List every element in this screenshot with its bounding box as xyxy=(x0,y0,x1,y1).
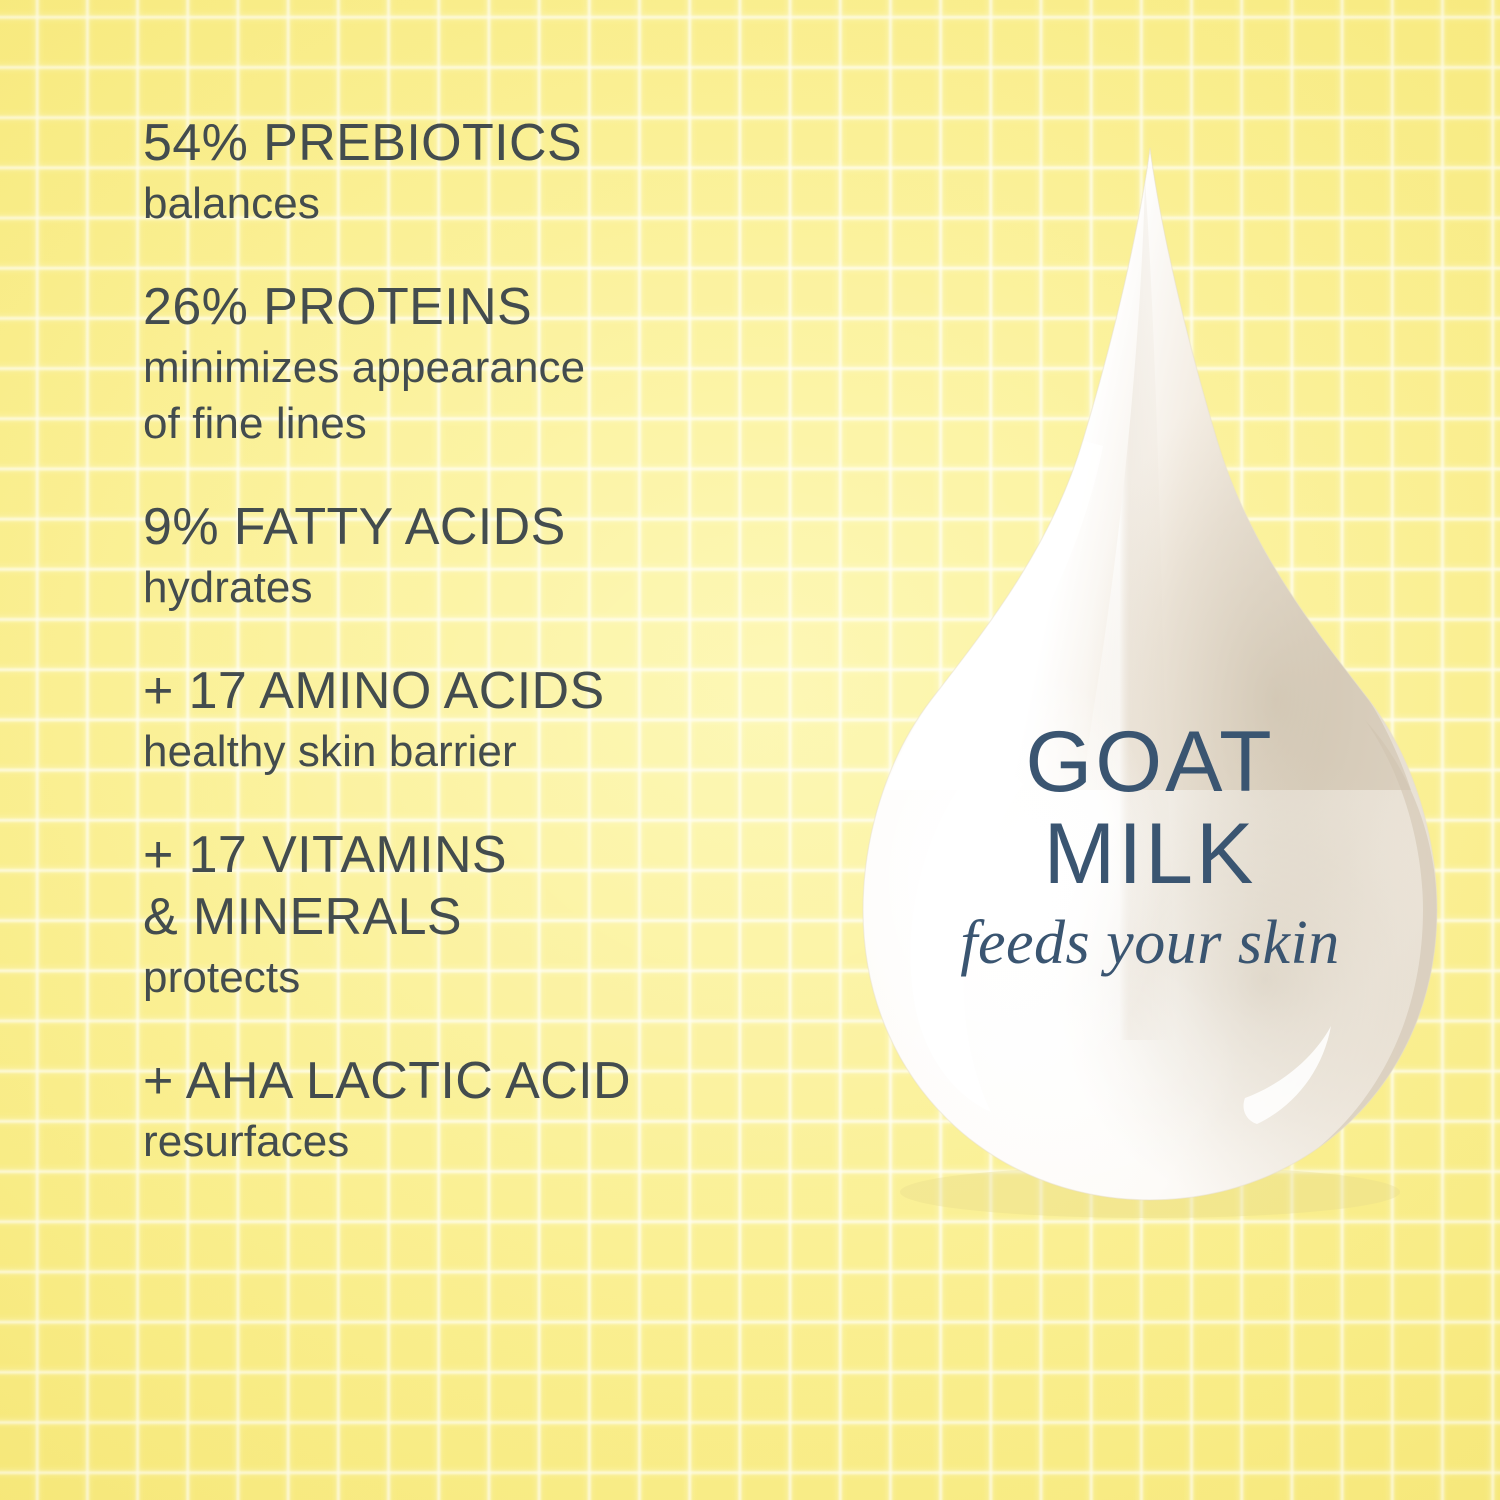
benefit-subtitle: hydrates xyxy=(143,560,843,616)
benefit-item: + AHA LACTIC ACID resurfaces xyxy=(143,1050,843,1170)
benefit-item: 54% PREBIOTICS balances xyxy=(143,112,843,232)
infographic-canvas: 54% PREBIOTICS balances 26% PROTEINS min… xyxy=(0,0,1500,1500)
benefit-title: + 17 VITAMINS & MINERALS xyxy=(143,824,843,948)
benefit-title: + 17 AMINO ACIDS xyxy=(143,660,843,722)
benefits-list: 54% PREBIOTICS balances 26% PROTEINS min… xyxy=(143,112,843,1170)
benefit-item: 9% FATTY ACIDS hydrates xyxy=(143,496,843,616)
benefit-subtitle: protects xyxy=(143,950,843,1006)
milk-droplet: GOAT MILK feeds your skin xyxy=(845,140,1455,1230)
benefit-item: + 17 VITAMINS & MINERALS protects xyxy=(143,824,843,1006)
benefit-title: 26% PROTEINS xyxy=(143,276,843,338)
benefit-title: + AHA LACTIC ACID xyxy=(143,1050,843,1112)
benefit-item: + 17 AMINO ACIDS healthy skin barrier xyxy=(143,660,843,780)
milk-droplet-icon xyxy=(845,140,1455,1230)
benefit-title: 9% FATTY ACIDS xyxy=(143,496,843,558)
benefit-subtitle: minimizes appearance of fine lines xyxy=(143,340,843,452)
benefit-subtitle: resurfaces xyxy=(143,1114,843,1170)
benefit-subtitle: healthy skin barrier xyxy=(143,724,843,780)
benefit-item: 26% PROTEINS minimizes appearance of fin… xyxy=(143,276,843,452)
benefit-subtitle: balances xyxy=(143,176,843,232)
benefit-title: 54% PREBIOTICS xyxy=(143,112,843,174)
